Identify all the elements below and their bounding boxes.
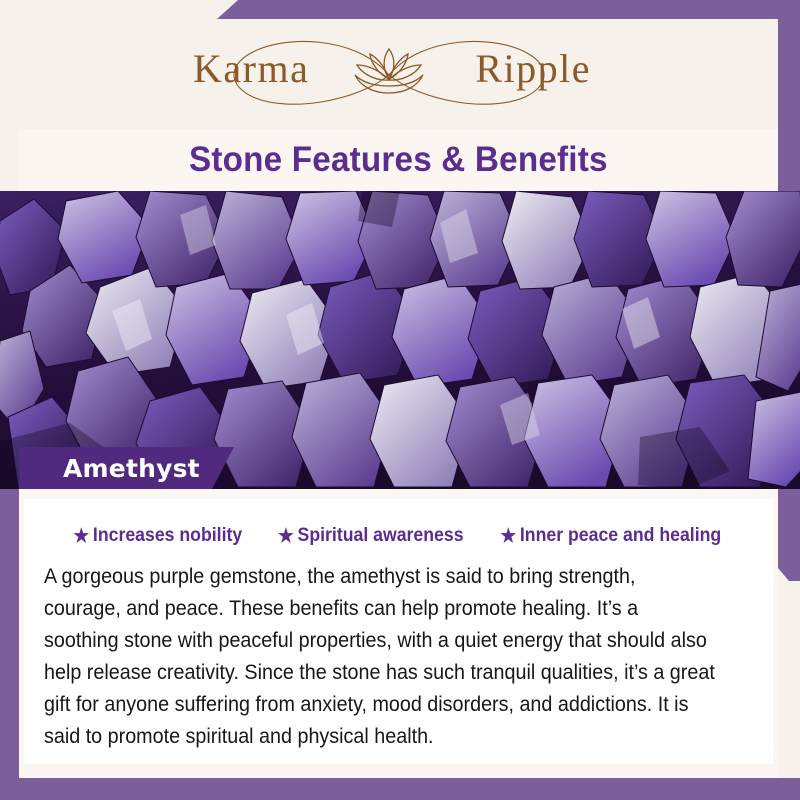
benefit-label-2: Spiritual awareness: [297, 525, 463, 547]
frame-bar-left: [0, 489, 19, 800]
benefit-item-2: ★ Spiritual awareness: [278, 525, 464, 547]
frame-bar-top: [217, 0, 800, 19]
star-icon: ★: [501, 527, 517, 546]
description-card-inner: ★ Increases nobility ★ Spiritual awarene…: [24, 499, 773, 764]
brand-name-left: Karma: [193, 45, 309, 92]
benefit-label-3: Inner peace and healing: [520, 525, 721, 547]
description-text: A gorgeous purple gemstone, the amethyst…: [44, 561, 716, 753]
stone-name: Amethyst: [19, 454, 200, 483]
brand-name-right: Ripple: [475, 45, 591, 92]
frame-bar-right-tail: [778, 497, 800, 581]
benefit-label-1: Increases nobility: [93, 525, 242, 547]
amethyst-photo: [0, 191, 800, 489]
stone-name-banner: Amethyst: [19, 447, 234, 489]
brand-header: Karma Ripple: [0, 19, 778, 129]
star-icon: ★: [74, 527, 90, 546]
benefits-list: ★ Increases nobility ★ Spiritual awarene…: [24, 525, 773, 547]
frame-bar-bottom: [0, 778, 800, 800]
amethyst-photo-render: [0, 191, 800, 489]
star-icon: ★: [278, 527, 294, 546]
product-infographic: Karma Ripple Stone Features & Benefits: [0, 0, 800, 800]
benefit-item-1: ★ Increases nobility: [74, 525, 243, 547]
brand-logo: Karma Ripple: [179, 31, 599, 117]
title-band: Stone Features & Benefits: [19, 129, 778, 191]
page-title: Stone Features & Benefits: [189, 140, 608, 180]
description-card: ★ Increases nobility ★ Spiritual awarene…: [19, 489, 778, 778]
benefit-item-3: ★ Inner peace and healing: [501, 525, 722, 547]
